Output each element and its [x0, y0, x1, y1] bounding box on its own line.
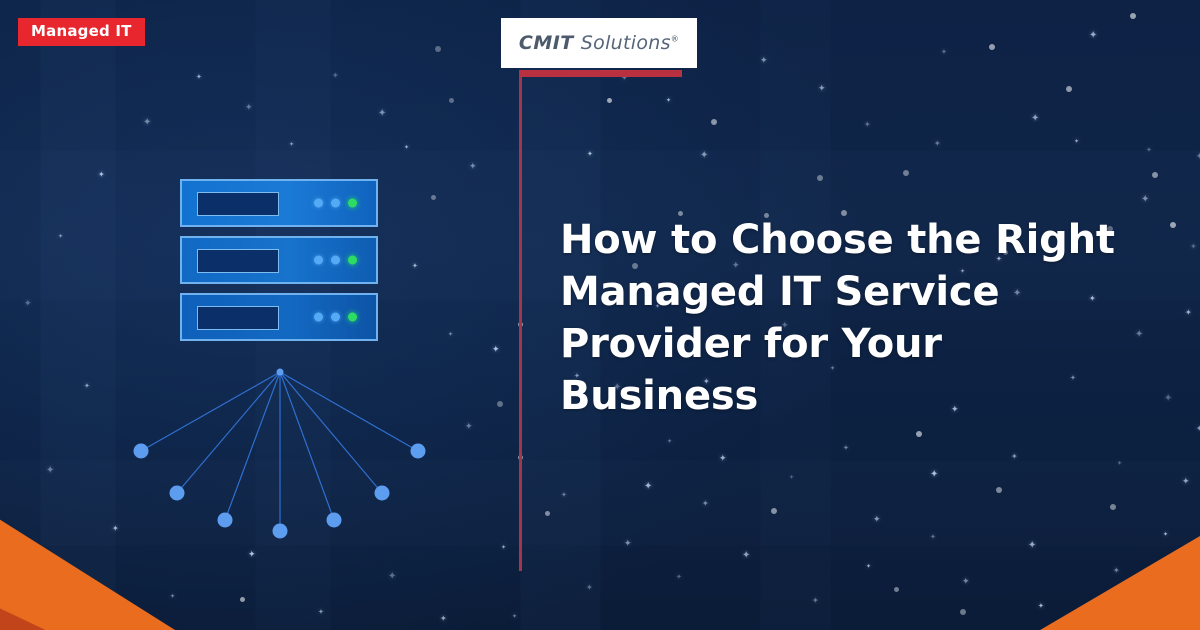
server-status-leds [314, 313, 357, 322]
star-dot-icon [497, 401, 503, 407]
star-sparkle-icon: ✦ [700, 151, 708, 160]
brand-logo-card: CMITSolutions® [501, 18, 697, 68]
star-sparkle-icon: ✦ [934, 139, 941, 148]
network-node [170, 486, 185, 501]
star-dot-icon [1066, 86, 1072, 92]
network-link [280, 372, 382, 493]
network-link [280, 372, 418, 451]
star-dot-icon [903, 170, 909, 176]
brand-logo-text: CMITSolutions® [519, 32, 679, 54]
server-status-leds [314, 256, 357, 265]
star-sparkle-icon: ✦ [843, 444, 849, 453]
server-unit-2 [180, 236, 378, 284]
star-dot-icon [916, 431, 922, 437]
led-green-icon [348, 199, 357, 208]
star-sparkle-icon: ✦ [1182, 478, 1190, 487]
category-badge: Managed IT [18, 18, 145, 46]
star-dot-icon [711, 119, 717, 125]
network-node [327, 513, 342, 528]
star-sparkle-icon: ✦ [941, 48, 947, 57]
star-sparkle-icon: ✦ [332, 71, 339, 80]
star-sparkle-icon: ✦ [388, 572, 396, 581]
star-dot-icon [607, 98, 612, 103]
star-sparkle-icon: ✦ [676, 573, 682, 582]
star-sparkle-icon: ✦ [440, 614, 447, 623]
star-sparkle-icon: ✦ [98, 170, 105, 179]
star-sparkle-icon: ✦ [864, 120, 871, 129]
accent-rule-vertical [519, 77, 522, 571]
network-hub-node [277, 369, 284, 376]
network-node [218, 513, 233, 528]
led-green-icon [348, 313, 357, 322]
star-sparkle-icon: ✦ [412, 262, 418, 271]
star-sparkle-icon: ✦ [46, 466, 54, 475]
corner-wedge-bottom-right [1030, 530, 1200, 630]
star-sparkle-icon: ✦ [1163, 530, 1168, 539]
star-dot-icon [1110, 504, 1116, 510]
star-sparkle-icon: ✦ [1113, 566, 1120, 575]
star-sparkle-icon: ✦ [289, 140, 294, 149]
network-link [225, 372, 280, 520]
star-sparkle-icon: ✦ [501, 543, 506, 552]
star-sparkle-icon: ✦ [1196, 153, 1200, 162]
star-sparkle-icon: ✦ [1185, 308, 1192, 317]
server-rack-illustration [180, 179, 378, 350]
network-link [280, 372, 334, 520]
star-sparkle-icon: ✦ [143, 118, 151, 127]
star-sparkle-icon: ✦ [812, 596, 819, 605]
star-sparkle-icon: ✦ [644, 482, 652, 491]
star-sparkle-icon: ✦ [666, 96, 671, 105]
star-sparkle-icon: ✦ [702, 499, 709, 508]
star-sparkle-icon: ✦ [1117, 459, 1122, 468]
star-dot-icon [1130, 13, 1136, 19]
star-dot-icon [449, 98, 454, 103]
star-sparkle-icon: ✦ [512, 612, 517, 621]
accent-rule-horizontal [519, 70, 682, 77]
star-sparkle-icon: ✦ [789, 473, 794, 482]
star-sparkle-icon: ✦ [1089, 31, 1097, 40]
star-sparkle-icon: ✦ [586, 583, 593, 592]
server-slot-icon [197, 306, 279, 330]
star-sparkle-icon: ✦ [378, 109, 386, 118]
star-dot-icon [996, 487, 1002, 493]
star-sparkle-icon: ✦ [760, 57, 768, 66]
star-sparkle-icon: ✦ [170, 592, 175, 601]
star-sparkle-icon: ✦ [1196, 424, 1200, 433]
star-sparkle-icon: ✦ [1038, 602, 1044, 611]
star-sparkle-icon: ✦ [561, 491, 567, 500]
star-dot-icon [1170, 222, 1176, 228]
star-sparkle-icon: ✦ [1190, 242, 1197, 251]
star-sparkle-icon: ✦ [1011, 452, 1018, 461]
page-title: How to Choose the Right Managed IT Servi… [560, 214, 1150, 422]
network-fan-illustration [110, 355, 450, 555]
star-dot-icon [960, 609, 966, 615]
star-sparkle-icon: ✦ [962, 578, 970, 587]
network-node [273, 524, 288, 539]
star-sparkle-icon: ✦ [873, 516, 881, 525]
server-slot-icon [197, 192, 279, 216]
server-slot-icon [197, 249, 279, 273]
network-link [141, 372, 280, 451]
star-sparkle-icon: ✦ [404, 143, 409, 152]
star-sparkle-icon: ✦ [469, 163, 477, 172]
brand-word: Solutions [581, 32, 671, 54]
star-sparkle-icon: ✦ [742, 551, 750, 560]
network-node [411, 444, 426, 459]
brand-mark: CMIT [519, 32, 574, 54]
star-sparkle-icon: ✦ [1031, 114, 1039, 123]
led-blue-icon [314, 256, 323, 265]
network-node [134, 444, 149, 459]
network-diagram-svg [110, 355, 450, 555]
server-unit-1 [180, 179, 378, 227]
network-node [375, 486, 390, 501]
star-dot-icon [771, 508, 777, 514]
star-sparkle-icon: ✦ [587, 150, 593, 159]
star-sparkle-icon: ✦ [24, 300, 32, 309]
star-dot-icon [240, 597, 245, 602]
star-sparkle-icon: ✦ [1074, 137, 1079, 146]
social-share-card: ✦✦✦✦✦✦✦✦✦✦✦✦✦✦✦✦✦✦✦✦✦✦✦✦✦✦✦✦✦✦✦✦✦✦✦✦✦✦✦✦… [0, 0, 1200, 630]
star-sparkle-icon: ✦ [58, 232, 63, 241]
star-dot-icon [989, 44, 995, 50]
star-sparkle-icon: ✦ [818, 85, 826, 94]
star-sparkle-icon: ✦ [1141, 195, 1149, 204]
star-sparkle-icon: ✦ [719, 455, 727, 464]
star-sparkle-icon: ✦ [318, 608, 324, 617]
star-sparkle-icon: ✦ [492, 346, 500, 355]
star-sparkle-icon: ✦ [84, 382, 90, 391]
star-dot-icon [435, 46, 441, 52]
led-blue-icon [314, 313, 323, 322]
star-sparkle-icon: ✦ [1028, 541, 1036, 550]
server-status-leds [314, 199, 357, 208]
star-sparkle-icon: ✦ [448, 330, 453, 339]
star-sparkle-icon: ✦ [465, 423, 473, 432]
star-dot-icon [817, 175, 823, 181]
star-sparkle-icon: ✦ [930, 470, 938, 479]
led-green-icon [348, 256, 357, 265]
star-sparkle-icon: ✦ [196, 73, 202, 82]
star-dot-icon [894, 587, 899, 592]
network-link [177, 372, 280, 493]
led-blue-icon [331, 313, 340, 322]
star-sparkle-icon: ✦ [624, 540, 632, 549]
star-sparkle-icon: ✦ [1164, 394, 1172, 403]
server-unit-3 [180, 293, 378, 341]
star-dot-icon [431, 195, 436, 200]
star-sparkle-icon: ✦ [866, 562, 871, 571]
led-blue-icon [331, 199, 340, 208]
star-sparkle-icon: ✦ [245, 104, 253, 113]
led-blue-icon [314, 199, 323, 208]
star-sparkle-icon: ✦ [930, 533, 936, 542]
led-blue-icon [331, 256, 340, 265]
star-dot-icon [545, 511, 550, 516]
star-dot-icon [1152, 172, 1158, 178]
registered-trademark-icon: ® [671, 35, 679, 44]
star-sparkle-icon: ✦ [1146, 146, 1152, 155]
star-sparkle-icon: ✦ [667, 437, 672, 446]
